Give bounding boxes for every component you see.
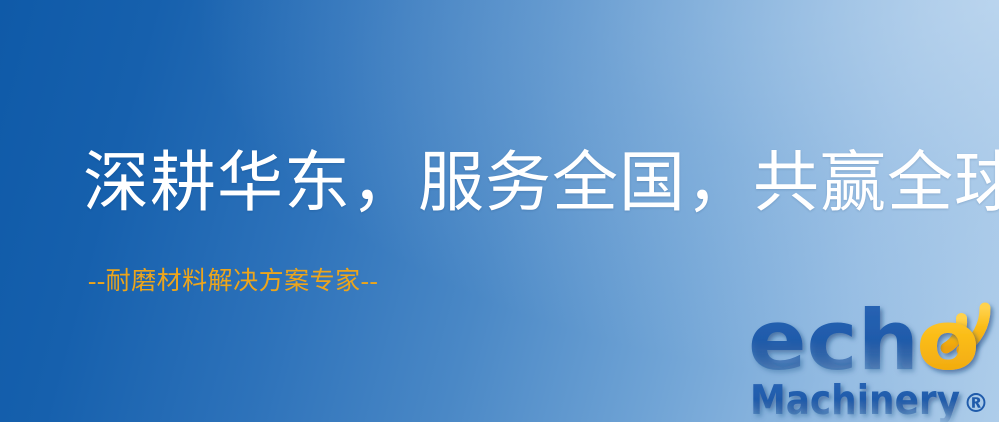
logo-wordmark-accent-o: o <box>916 292 980 389</box>
logo-tagline: Machinery <box>750 376 960 422</box>
registered-trademark-icon: ® <box>963 389 989 419</box>
promo-banner: 深耕华东，服务全国，共赢全球 --耐磨材料解决方案专家-- <box>0 0 999 422</box>
banner-subtitle: --耐磨材料解决方案专家-- <box>88 267 378 297</box>
logo-wordmark-ech: ech <box>748 292 919 389</box>
page-title: 深耕华东，服务全国，共赢全球 <box>83 148 999 219</box>
echo-machinery-logo[interactable]: ech o Machinery ® <box>748 292 999 422</box>
